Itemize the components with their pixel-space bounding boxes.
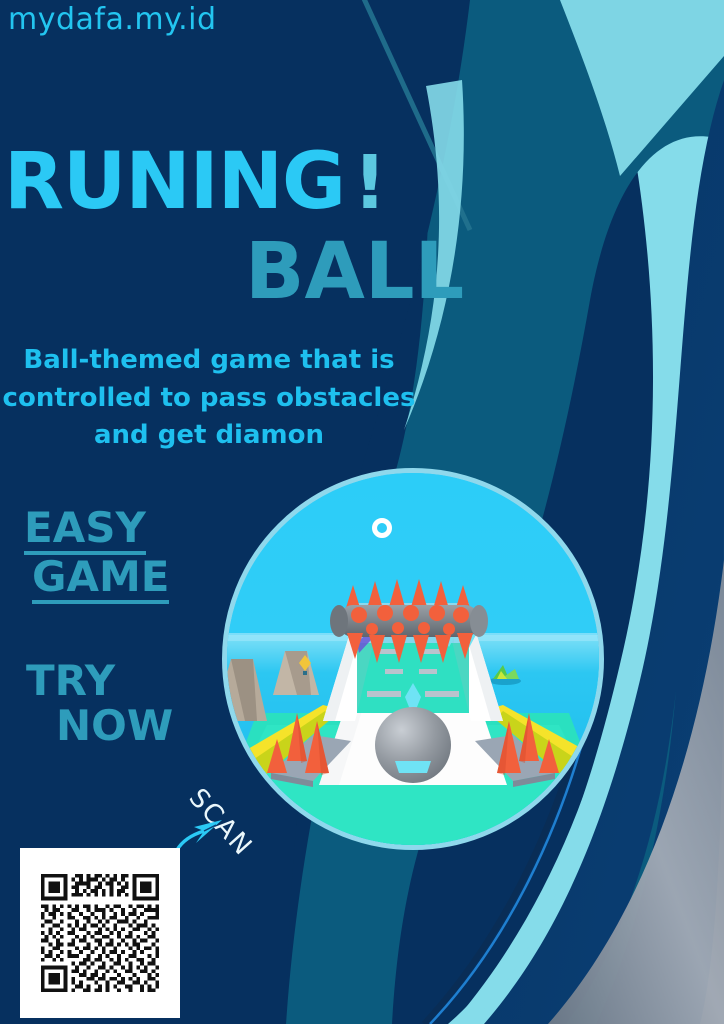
game-screenshot	[227, 473, 599, 845]
qr-code-image[interactable]	[37, 870, 163, 996]
easy-label: EASY	[24, 506, 146, 555]
player-ball	[375, 707, 451, 783]
poster-canvas: mydafa.my.id RUNING! BALL Ball-themed ga…	[0, 0, 724, 1024]
page-title-secondary: BALL	[245, 233, 464, 311]
try-label: TRY	[26, 656, 115, 705]
title-exclamation: !	[353, 140, 386, 226]
try-now-cta[interactable]: TRY NOW	[26, 658, 173, 749]
qr-code-card[interactable]	[20, 848, 180, 1018]
now-label: NOW	[56, 703, 173, 748]
title-word-runing: RUNING	[4, 137, 345, 227]
easy-game-badge: EASY GAME	[24, 506, 169, 604]
game-label: GAME	[32, 555, 169, 604]
site-url-label: mydafa.my.id	[8, 2, 217, 37]
description-text: Ball-themed game that is controlled to p…	[0, 342, 418, 455]
game-preview-circle[interactable]	[222, 468, 604, 850]
page-title-primary: RUNING!	[4, 143, 386, 221]
